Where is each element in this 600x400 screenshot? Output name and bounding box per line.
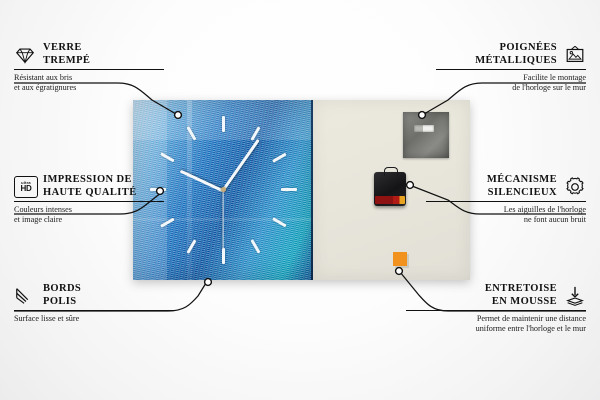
second-hand (222, 191, 223, 249)
feature-rule (14, 201, 164, 202)
feature-entretoise-en-mousse: ENTRETOISE EN MOUSSE Permet de maintenir… (406, 283, 586, 334)
clock-hub (221, 187, 226, 192)
picture-hanger-icon (564, 44, 586, 66)
feature-desc-line2: uniforme entre l'horloge et le mur (406, 324, 586, 334)
infographic-canvas: VERRE TREMPÉ Résistant aux bris et aux é… (0, 0, 600, 400)
ultra-hd-badge-icon: ultra HD (14, 176, 36, 198)
feature-mecanisme-silencieux: MÉCANISME SILENCIEUX Les aiguilles de l'… (426, 174, 586, 225)
arrow-layers-icon (564, 285, 586, 307)
feature-rule (426, 201, 586, 202)
feature-title-line2: POLIS (43, 296, 77, 307)
feature-title-line1: ENTRETOISE (485, 283, 557, 294)
feature-poignees-metalliques: POIGNÉES MÉTALLIQUES Facilite le montage… (436, 42, 586, 93)
feature-title-line2: MÉTALLIQUES (475, 55, 557, 66)
tick-3 (281, 188, 297, 191)
metal-hanger-plate (403, 112, 449, 158)
tick-6 (222, 248, 225, 264)
polished-edge-icon (14, 285, 36, 307)
feature-title-line2: HAUTE QUALITÉ (43, 187, 137, 198)
feature-rule (14, 69, 164, 70)
feature-desc-line2: et aux égratignures (14, 83, 164, 93)
feature-bords-polis: BORDS POLIS Surface lisse et sûre (14, 283, 174, 324)
feature-verre-trempe: VERRE TREMPÉ Résistant aux bris et aux é… (14, 42, 164, 93)
feature-title-line2: TREMPÉ (43, 55, 90, 66)
feature-desc-line2: ne font aucun bruit (426, 215, 586, 225)
feature-desc-line1: Résistant aux bris (14, 73, 164, 83)
tick-12 (222, 116, 225, 132)
feature-desc-line1: Couleurs intenses (14, 205, 164, 215)
feature-rule (436, 69, 586, 70)
feature-rule (14, 310, 174, 311)
feature-title-line2: SILENCIEUX (488, 187, 557, 198)
hd-badge-large-label: HD (21, 185, 32, 193)
gear-icon (564, 176, 586, 198)
feature-title-line1: POIGNÉES (500, 42, 557, 53)
feature-title-line1: IMPRESSION DE (43, 174, 132, 185)
feature-title-line1: MÉCANISME (487, 174, 557, 185)
feature-desc-line2: de l'horloge sur le mur (436, 83, 586, 93)
foam-spacer (393, 252, 407, 266)
feature-desc-line2: et image claire (14, 215, 164, 225)
feature-impression-haute-qualite: ultra HD IMPRESSION DE HAUTE QUALITÉ Cou… (14, 174, 164, 225)
feature-desc-line1: Facilite le montage (436, 73, 586, 83)
feature-desc-line1: Les aiguilles de l'horloge (426, 205, 586, 215)
feature-title-line1: BORDS (43, 283, 81, 294)
feature-title-line1: VERRE (43, 42, 82, 53)
feature-desc-line1: Permet de maintenir une distance (406, 314, 586, 324)
diamond-icon (14, 44, 36, 66)
feature-rule (406, 310, 586, 311)
feature-title-line2: EN MOUSSE (492, 296, 557, 307)
feature-desc-line1: Surface lisse et sûre (14, 314, 174, 324)
battery (375, 196, 405, 204)
